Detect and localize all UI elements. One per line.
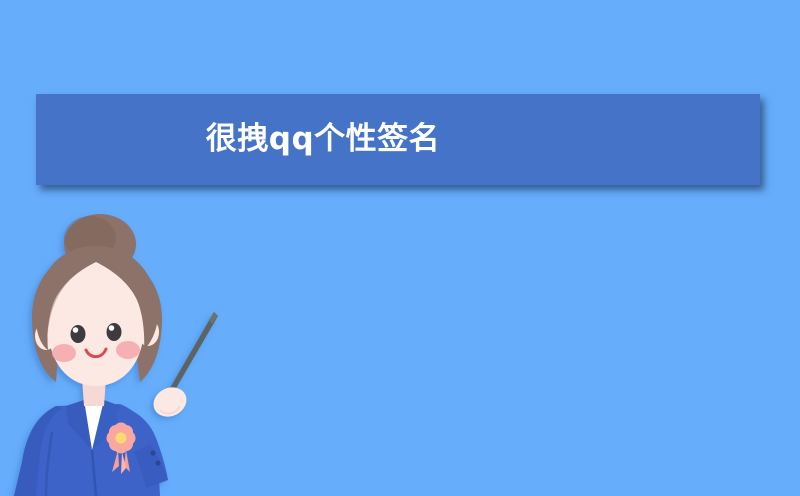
teacher-illustration <box>0 210 260 496</box>
teacher-illustration-svg <box>0 210 260 496</box>
badge-center <box>116 433 127 444</box>
eye-left <box>71 325 86 343</box>
sleeve-button-2 <box>155 460 160 465</box>
page-title: 很拽qq个性签名 <box>206 124 440 155</box>
blush-left <box>52 344 76 362</box>
blush-right <box>116 341 140 359</box>
page-root: 很拽qq个性签名 <box>0 0 800 496</box>
hand <box>149 382 192 422</box>
jacket-group <box>14 400 168 496</box>
eye-right <box>107 323 122 341</box>
title-banner: 很拽qq个性签名 <box>36 94 760 185</box>
sleeve-button-1 <box>150 450 155 455</box>
character-group <box>14 214 218 496</box>
hand-shape <box>149 382 192 422</box>
eye-left-highlight <box>73 327 79 333</box>
eye-right-highlight <box>109 325 115 331</box>
